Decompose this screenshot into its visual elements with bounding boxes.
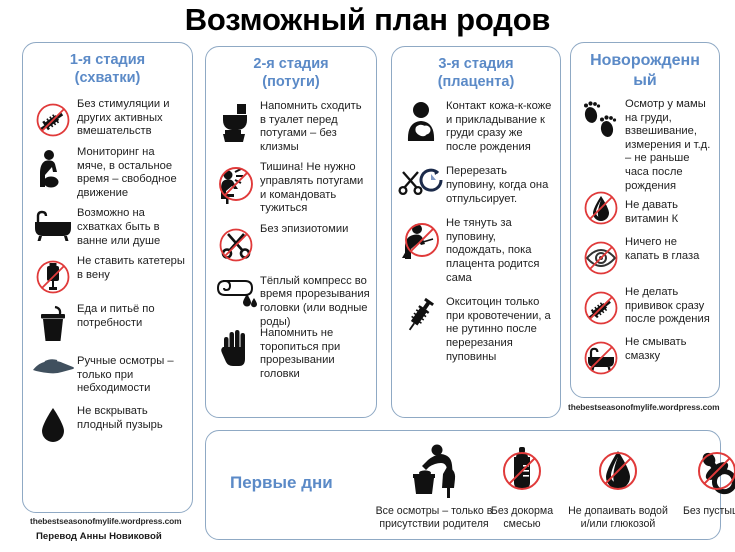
list-item-label: Не тянуть за пуповину, подождать, пока п… [446, 216, 554, 285]
panel-stage-3: 3-я стадия (плацента) Контакт кожа-к-кож… [391, 46, 561, 418]
header-line: Новорожденн [571, 51, 719, 71]
skin-to-skin-icon [398, 99, 446, 147]
list-item: Не вскрывать плодный пузырь [29, 404, 186, 444]
translator-label: Перевод Анны Новиковой [36, 531, 162, 542]
panel-stage-2-list: Напомнить сходить в туалет перед потугам… [206, 95, 376, 382]
list-item: Еда и питьё по потребности [29, 302, 186, 344]
list-item: Ничего не капать в глаза [577, 235, 713, 279]
first-days-item: Не допаивать водой и/или глюкозой [566, 443, 670, 531]
scissors-clock-icon [398, 164, 446, 200]
panel-stage-2: 2-я стадия (потуги) Напомнить сходить в … [205, 46, 377, 418]
no-water-drop-icon [566, 443, 670, 499]
list-item-label: Не вскрывать плодный пузырь [77, 404, 186, 432]
panel-newborn: Новорожденн ый Осмотр у мамы на груди, в… [570, 42, 720, 398]
first-days-item: Без докорма смесью [474, 443, 570, 531]
list-item-label: Контакт кожа-к-коже и прикладывание к гр… [446, 99, 554, 154]
first-days-item: Без пустышек [668, 443, 735, 518]
list-item: Не давать витамин К [577, 185, 713, 229]
no-bottle-icon [474, 443, 570, 499]
person-on-ball-icon [29, 145, 77, 189]
list-item-label: Ничего не капать в глаза [625, 235, 713, 263]
page-title: Возможный план родов [0, 2, 735, 38]
panel-stage-1: 1-я стадия (схватки) [22, 42, 193, 513]
first-days-item-label: Без пустышек [668, 505, 735, 518]
list-item-label: Окситоцин только при кровотечении, а не … [446, 295, 554, 364]
list-item: Возможно на схватках быть в ванне или ду… [29, 206, 186, 248]
first-days-item-label: Без докорма смесью [474, 505, 570, 531]
no-syringe-icon [29, 97, 77, 141]
list-item-label: Возможно на схватках быть в ванне или ду… [77, 206, 186, 248]
header-line: (схватки) [23, 69, 192, 87]
open-hand-icon [29, 354, 77, 382]
list-item-label: Ручные осмотры – только при небходимости [77, 354, 186, 396]
list-item: Перерезать пуповину, когда она отпульсир… [398, 164, 554, 206]
panel-newborn-list: Осмотр у мамы на груди, взвешивание, изм… [571, 93, 719, 379]
no-shouting-coach-icon [212, 160, 260, 206]
list-item-label: Мониторинг на мяче, в остальное время – … [77, 145, 186, 200]
panel-stage-2-header: 2-я стадия (потуги) [206, 47, 376, 91]
panel-stage-1-header: 1-я стадия (схватки) [23, 43, 192, 87]
bathtub-icon [29, 206, 77, 242]
list-item: Ручные осмотры – только при небходимости [29, 354, 186, 396]
list-item-label: Не ставить катетеры в вену [77, 254, 186, 282]
infographic-root: Возможный план родов 1-я стадия (схватки… [0, 0, 735, 552]
list-item: Без стимуляции и других активных вмешате… [29, 97, 186, 141]
list-item-label: Напомнить не торопиться при прорезывании… [260, 313, 370, 381]
panel-stage-3-list: Контакт кожа-к-коже и прикладывание к гр… [392, 95, 560, 364]
list-item: Не тянуть за пуповину, подождать, пока п… [398, 216, 554, 285]
toilet-icon [212, 99, 260, 145]
drink-cup-icon [29, 302, 77, 344]
panel-stage-1-list: Без стимуляции и других активных вмешате… [23, 93, 192, 444]
credit-label-col1: thebestseasonofmylife.wordpress.com [30, 516, 181, 526]
warm-compress-icon [212, 274, 260, 310]
header-line: 1-я стадия [23, 51, 192, 69]
no-cord-traction-icon [398, 216, 446, 262]
list-item-label: Не делать прививок сразу после рождения [625, 285, 713, 327]
list-item: Осмотр у мамы на груди, взвешивание, изм… [577, 97, 713, 193]
list-item: Тишина! Не нужно управлять потугами и ко… [212, 160, 370, 215]
list-item: Не смывать смазку [577, 335, 713, 379]
list-item: Контакт кожа-к-коже и прикладывание к гр… [398, 99, 554, 154]
list-item: Напомнить сходить в туалет перед потугам… [212, 99, 370, 154]
header-line: ый [571, 71, 719, 91]
list-item: Не делать прививок сразу после рождения [577, 285, 713, 329]
list-item-label: Еда и питьё по потребности [77, 302, 186, 330]
panel-stage-3-header: 3-я стадия (плацента) [392, 47, 560, 91]
list-item-label: Без стимуляции и других активных вмешате… [77, 97, 186, 139]
list-item-label: Не давать витамин К [625, 185, 713, 226]
panel-first-days-title: Первые дни [230, 473, 333, 493]
no-iv-drip-icon [29, 254, 77, 298]
header-line: 3-я стадия [392, 55, 560, 73]
no-vitamin-k-drop-icon [577, 185, 625, 229]
no-vaccine-syringe-icon [577, 285, 625, 329]
credit-label-col4: thebestseasonofmylife.wordpress.com [568, 402, 719, 412]
water-drop-icon [29, 404, 77, 444]
list-item-label: Напомнить сходить в туалет перед потугам… [260, 99, 370, 154]
header-line: (потуги) [206, 73, 376, 91]
list-item: Без эпизиотомии [212, 222, 370, 266]
list-item: Напомнить не торопиться при прорезывании… [212, 313, 370, 381]
list-item-label: Перерезать пуповину, когда она отпульсир… [446, 164, 554, 206]
stop-hand-icon [212, 313, 260, 367]
list-item: Окситоцин только при кровотечении, а не … [398, 295, 554, 364]
header-line: (плацента) [392, 73, 560, 91]
list-item-label: Осмотр у мамы на груди, взвешивание, изм… [625, 97, 713, 193]
panel-newborn-header: Новорожденн ый [571, 43, 719, 91]
no-pacifier-icon [668, 443, 735, 499]
list-item-label: Без эпизиотомии [260, 222, 348, 237]
list-item-label: Не смывать смазку [625, 335, 713, 363]
list-item-label: Тишина! Не нужно управлять потугами и ко… [260, 160, 370, 215]
list-item: Мониторинг на мяче, в остальное время – … [29, 145, 186, 200]
first-days-item-label: Не допаивать водой и/или глюкозой [566, 505, 670, 531]
header-line: 2-я стадия [206, 55, 376, 73]
baby-footprints-icon [577, 97, 625, 145]
list-item: Не ставить катетеры в вену [29, 254, 186, 298]
no-bathtub-icon [577, 335, 625, 379]
syringe-icon [398, 295, 446, 341]
no-eye-drops-icon [577, 235, 625, 279]
panel-first-days: Первые дни Все осмотры – только в присут… [205, 430, 721, 540]
no-scissors-icon [212, 222, 260, 266]
